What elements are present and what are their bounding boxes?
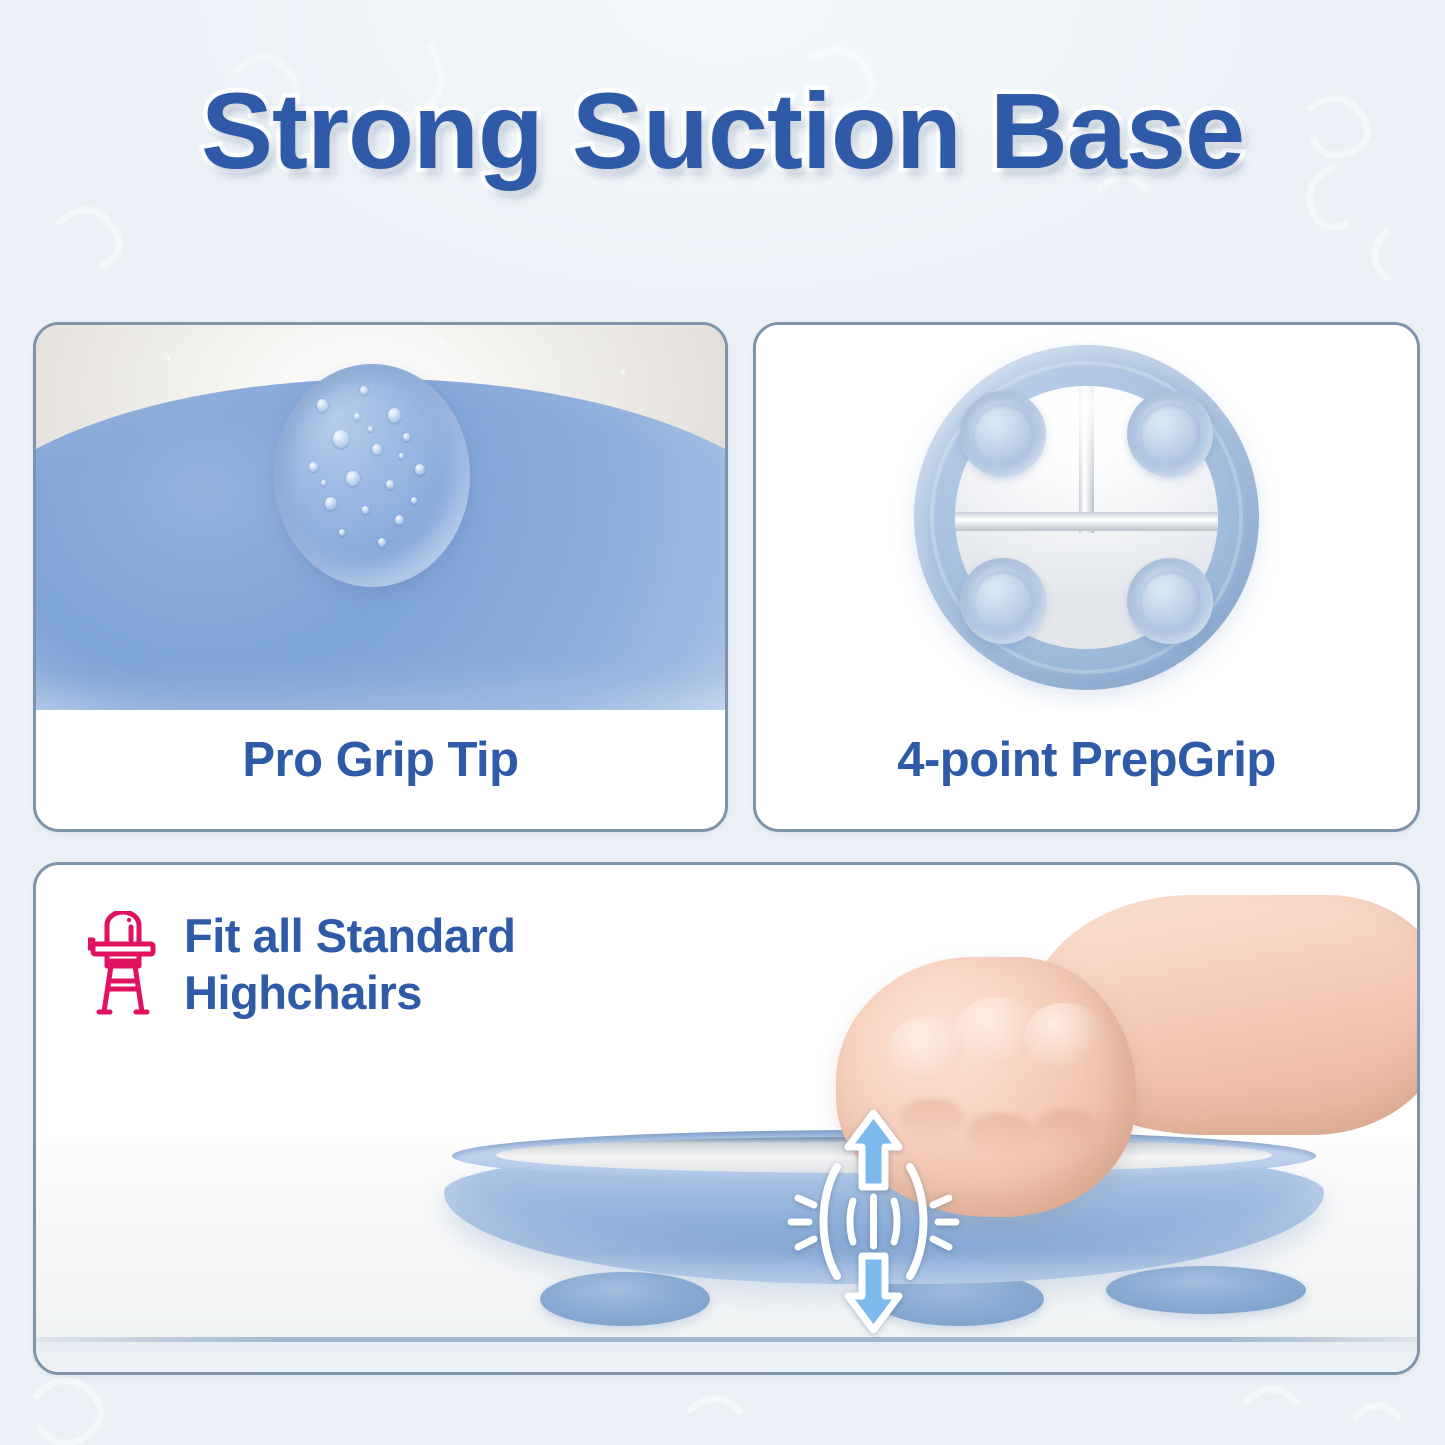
suction-cup-top-left	[960, 391, 1046, 477]
panel-fit-all-standard-highchairs: Fit all Standard Highchairs	[33, 862, 1420, 1375]
finger-fold-2	[966, 1113, 1036, 1155]
suction-cup-bottom-left	[960, 558, 1046, 644]
panel-4-point-prepgrip: 4-point PrepGrip	[753, 322, 1420, 832]
four-point-suction-scene	[756, 325, 1417, 710]
prepgrip-photo	[756, 325, 1417, 710]
water-droplets	[274, 364, 470, 587]
highchair-icon	[88, 911, 158, 1019]
table-front-face	[36, 1342, 1417, 1372]
prepgrip-caption: 4-point PrepGrip	[756, 704, 1417, 829]
suction-cup-bottom-right	[1127, 558, 1213, 644]
pro-grip-tip-caption: Pro Grip Tip	[36, 704, 725, 829]
finger-fold-3	[1034, 1109, 1100, 1149]
highchair-feature-label: Fit all Standard Highchairs	[184, 907, 516, 1022]
suction-force-arrows-icon	[781, 1109, 966, 1334]
panel-pro-grip-tip: Pro Grip Tip	[33, 322, 728, 832]
bowl-suction-foot-left	[540, 1272, 710, 1326]
knuckle-3	[1024, 1003, 1104, 1069]
pro-grip-tip-photo	[36, 325, 725, 710]
suction-tip-macro-scene	[36, 325, 725, 710]
bowl-suction-foot-right	[1106, 1266, 1306, 1314]
four-point-suction-icon	[914, 345, 1259, 690]
suction-cup-top-right	[1127, 391, 1213, 477]
page-title: Strong Suction Base	[0, 74, 1445, 187]
suction-tip-icon	[274, 364, 470, 587]
highchair-feature: Fit all Standard Highchairs	[88, 907, 516, 1022]
